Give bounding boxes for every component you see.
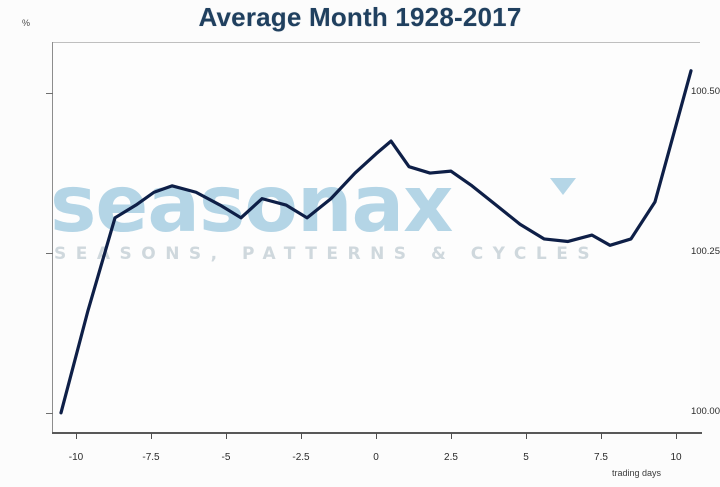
series-line-path (61, 71, 691, 413)
series-line-chart (0, 0, 720, 487)
chart-root: % Average Month 1928-2017 S&P 500 INDEX … (0, 0, 720, 487)
